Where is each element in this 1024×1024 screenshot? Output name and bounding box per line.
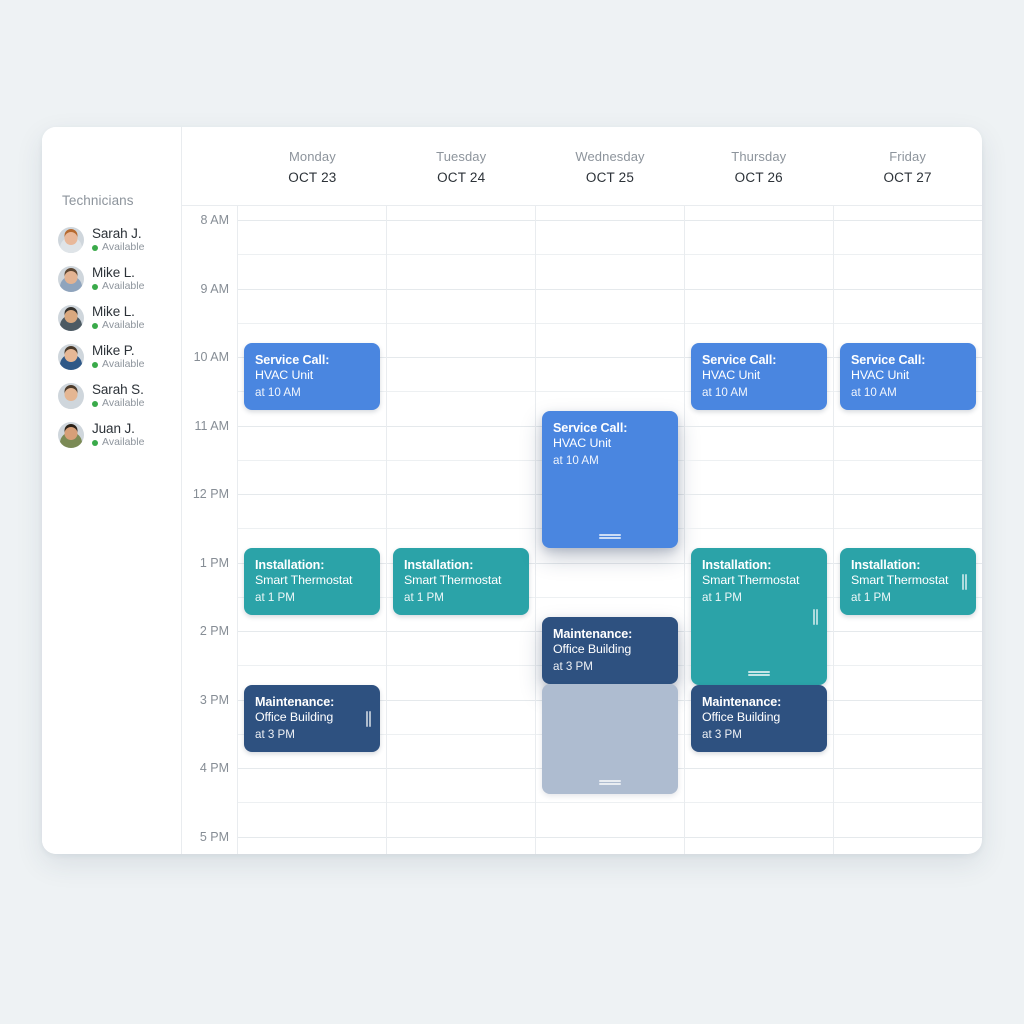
grid-line [387,254,535,255]
grid-line [536,837,684,838]
grid-line [834,665,982,666]
status-dot [92,284,98,290]
event-title: Maintenance: [255,694,369,710]
event-card[interactable]: Installation:Smart Thermostatat 1 PM [840,548,976,615]
day-column-friday[interactable]: Service Call:HVAC Unitat 10 AMInstallati… [834,206,982,854]
time-label: 2 PM [200,624,229,638]
calendar-panel: MondayOCT 23TuesdayOCT 24WednesdayOCT 25… [182,127,982,854]
grid-line [238,426,386,427]
technician-item[interactable]: Mike P.Available [58,337,181,376]
technician-name: Sarah J. [92,226,144,241]
grid-line [536,357,684,358]
status-label: Available [102,359,144,371]
grid-line [536,391,684,392]
event-card[interactable]: Service Call:HVAC Unitat 10 AM [542,411,678,548]
day-name: Friday [833,149,982,164]
grid-line [387,700,535,701]
event-time: at 10 AM [851,385,965,401]
technician-item[interactable]: Mike L.Available [58,298,181,337]
resize-handle-icon[interactable] [599,534,621,539]
technician-status: Available [92,281,144,293]
grid-line [685,802,833,803]
event-title: Service Call: [255,352,369,368]
technicians-sidebar: Technicians Sarah J.AvailableMike L.Avai… [42,127,182,854]
technician-status: Available [92,242,144,254]
day-header-thursday[interactable]: ThursdayOCT 26 [684,127,833,205]
time-label: 9 AM [201,282,230,296]
time-label: 11 AM [194,419,229,433]
day-header-monday[interactable]: MondayOCT 23 [238,127,387,205]
grid-line [834,494,982,495]
grid-line [238,802,386,803]
sidebar-title: Technicians [42,193,181,208]
grid-line [834,289,982,290]
technician-name: Mike P. [92,343,144,358]
grid-line [238,631,386,632]
day-column-thursday[interactable]: Service Call:HVAC Unitat 10 AMInstallati… [685,206,834,854]
day-date: OCT 27 [833,170,982,185]
drag-grip-icon[interactable] [366,711,371,727]
day-name: Thursday [684,149,833,164]
grid-line [685,323,833,324]
grid-line [387,631,535,632]
technician-name: Sarah S. [92,382,144,397]
event-title: Service Call: [553,420,667,436]
resize-handle-icon[interactable] [748,671,770,676]
event-card[interactable]: Maintenance:Office Buildingat 3 PM [691,685,827,752]
technician-list: Sarah J.AvailableMike L.AvailableMike L.… [42,220,181,454]
resize-handle-icon[interactable] [599,780,621,785]
grid-line [387,768,535,769]
event-card[interactable]: Maintenance:Office Buildingat 3 PM [542,617,678,684]
grid-line [238,254,386,255]
grid-line [536,563,684,564]
grid-line [685,289,833,290]
grid-line [685,768,833,769]
status-label: Available [102,281,144,293]
grid-line [685,426,833,427]
day-name: Monday [238,149,387,164]
status-dot [92,323,98,329]
grid-line [834,254,982,255]
event-subject: Office Building [553,642,667,658]
day-header-row: MondayOCT 23TuesdayOCT 24WednesdayOCT 25… [182,127,982,205]
status-dot [92,401,98,407]
event-title: Service Call: [851,352,965,368]
day-date: OCT 24 [387,170,536,185]
grid-line [685,254,833,255]
event-subject: Smart Thermostat [702,573,816,589]
grid-line [536,220,684,221]
grid-line [387,802,535,803]
grid-line [238,665,386,666]
event-subject: HVAC Unit [553,436,667,452]
grid-line [387,665,535,666]
event-title: Installation: [702,557,816,573]
event-time: at 1 PM [404,590,518,606]
time-label: 12 PM [193,487,229,501]
grid-line [834,460,982,461]
grid-line [834,734,982,735]
grid-line [387,494,535,495]
day-name: Wednesday [536,149,685,164]
avatar [58,383,84,409]
day-header-wednesday[interactable]: WednesdayOCT 25 [536,127,685,205]
grid-line [238,323,386,324]
time-label: 3 PM [200,693,229,707]
technician-name: Mike L. [92,304,144,319]
day-name: Tuesday [387,149,536,164]
event-time: at 3 PM [702,727,816,743]
event-card[interactable]: Service Call:HVAC Unitat 10 AM [691,343,827,410]
event-time: at 10 AM [255,385,369,401]
event-title: Installation: [851,557,965,573]
status-label: Available [102,320,144,332]
event-subject: Smart Thermostat [851,573,965,589]
event-time: at 10 AM [553,453,667,469]
technician-item[interactable]: Sarah S.Available [58,376,181,415]
event-card[interactable]: Installation:Smart Thermostatat 1 PM [691,548,827,685]
grid-line [834,426,982,427]
technician-status: Available [92,398,144,410]
technician-name: Juan J. [92,421,144,436]
day-date: OCT 23 [238,170,387,185]
drag-grip-icon[interactable] [962,574,967,590]
event-subject: Office Building [702,710,816,726]
grid-line [685,837,833,838]
grid-line [387,289,535,290]
calendar-grid: 8 AM9 AM10 AM11 AM12 PM1 PM2 PM3 PM4 PM5… [182,205,982,854]
grid-line [387,426,535,427]
grid-line [685,220,833,221]
grid-line [834,220,982,221]
avatar [58,344,84,370]
event-time: at 3 PM [255,727,369,743]
drag-placeholder[interactable] [542,684,678,794]
event-card[interactable]: Installation:Smart Thermostatat 1 PM [244,548,380,615]
event-subject: Smart Thermostat [404,573,518,589]
status-dot [92,440,98,446]
avatar [58,305,84,331]
status-dot [92,362,98,368]
grid-line [834,837,982,838]
event-card[interactable]: Maintenance:Office Buildingat 3 PM [244,685,380,752]
grid-line [834,528,982,529]
day-column-wednesday[interactable]: Service Call:HVAC Unitat 10 AMMaintenanc… [536,206,685,854]
status-label: Available [102,437,144,449]
technician-status: Available [92,320,144,332]
time-label: 10 AM [194,350,229,364]
day-column-tuesday[interactable]: Installation:Smart Thermostatat 1 PM [387,206,536,854]
scheduling-app-card: Technicians Sarah J.AvailableMike L.Avai… [42,127,982,854]
grid-line [387,391,535,392]
grid-line [834,700,982,701]
event-subject: HVAC Unit [851,368,965,384]
event-title: Service Call: [702,352,816,368]
avatar [58,227,84,253]
day-header-friday[interactable]: FridayOCT 27 [833,127,982,205]
grid-line [536,323,684,324]
grid-line [536,254,684,255]
day-date: OCT 26 [684,170,833,185]
grid-line [238,837,386,838]
grid-line [238,528,386,529]
event-subject: HVAC Unit [255,368,369,384]
event-time: at 10 AM [702,385,816,401]
grid-line [238,220,386,221]
event-title: Installation: [404,557,518,573]
avatar [58,266,84,292]
grid-line [834,768,982,769]
event-subject: Office Building [255,710,369,726]
grid-line [387,734,535,735]
time-gutter: 8 AM9 AM10 AM11 AM12 PM1 PM2 PM3 PM4 PM5… [182,206,238,854]
event-time: at 1 PM [851,590,965,606]
grid-line [536,289,684,290]
grid-line [238,768,386,769]
event-subject: HVAC Unit [702,368,816,384]
day-header-tuesday[interactable]: TuesdayOCT 24 [387,127,536,205]
grid-line [238,494,386,495]
status-dot [92,245,98,251]
technician-item[interactable]: Juan J.Available [58,415,181,454]
grid-line [387,460,535,461]
drag-grip-icon[interactable] [813,609,818,625]
grid-line [685,460,833,461]
grid-line [387,528,535,529]
avatar [58,422,84,448]
technician-status: Available [92,437,144,449]
status-label: Available [102,398,144,410]
grid-line [387,323,535,324]
technician-item[interactable]: Sarah J.Available [58,220,181,259]
event-title: Maintenance: [553,626,667,642]
grid-line [685,528,833,529]
grid-line [536,597,684,598]
day-column-monday[interactable]: Service Call:HVAC Unitat 10 AMInstallati… [238,206,387,854]
technician-name: Mike L. [92,265,144,280]
day-columns[interactable]: Service Call:HVAC Unitat 10 AMInstallati… [238,206,982,854]
grid-line [238,460,386,461]
event-subject: Smart Thermostat [255,573,369,589]
time-label: 4 PM [200,761,229,775]
technician-status: Available [92,359,144,371]
grid-line [387,357,535,358]
grid-line [834,631,982,632]
event-title: Installation: [255,557,369,573]
event-card[interactable]: Service Call:HVAC Unitat 10 AM [244,343,380,410]
event-card[interactable]: Service Call:HVAC Unitat 10 AM [840,343,976,410]
grid-line [387,837,535,838]
status-label: Available [102,242,144,254]
event-time: at 3 PM [553,659,667,675]
grid-line [387,220,535,221]
event-time: at 1 PM [702,590,816,606]
grid-line [685,494,833,495]
grid-line [536,802,684,803]
grid-line [238,289,386,290]
time-label: 8 AM [201,213,230,227]
grid-line [834,802,982,803]
technician-item[interactable]: Mike L.Available [58,259,181,298]
grid-line [834,323,982,324]
time-label: 1 PM [200,556,229,570]
time-label: 5 PM [200,830,229,844]
day-date: OCT 25 [536,170,685,185]
event-title: Maintenance: [702,694,816,710]
event-time: at 1 PM [255,590,369,606]
event-card[interactable]: Installation:Smart Thermostatat 1 PM [393,548,529,615]
